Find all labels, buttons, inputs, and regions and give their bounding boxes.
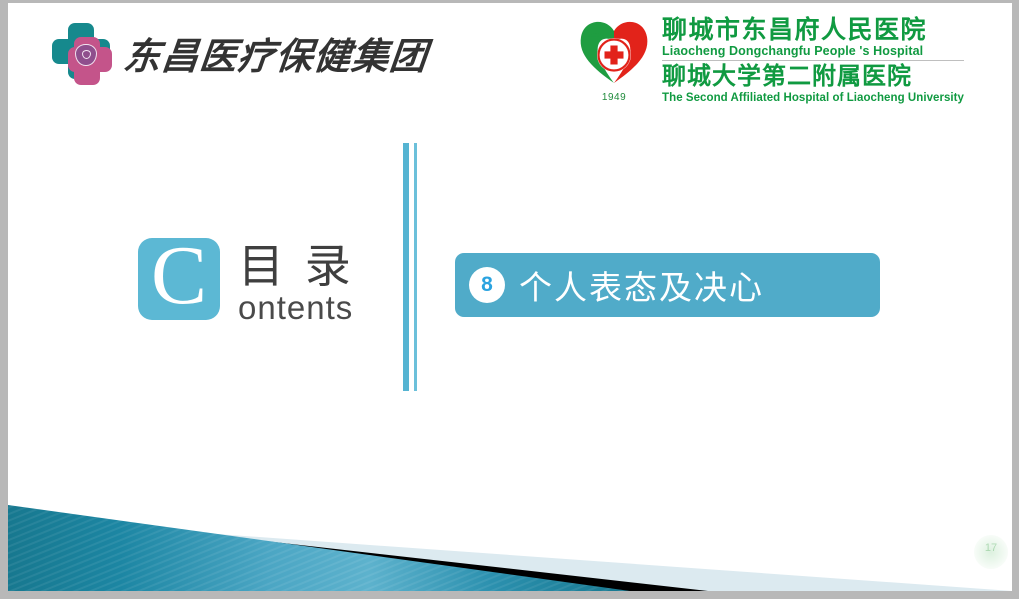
contents-title-cn: 目 录 bbox=[238, 243, 355, 289]
slide-content-area: 东昌医疗保健集团 1949 聊城市东昌府人民医院 Liaocheng Dongc… bbox=[8, 3, 1012, 591]
double-cross-heart-logo-icon bbox=[48, 17, 116, 89]
contents-item-bar[interactable]: 8 个人表态及决心 bbox=[455, 253, 880, 317]
contents-words: 目 录 ontents bbox=[238, 243, 355, 324]
brand-right-group: 1949 聊城市东昌府人民医院 Liaocheng Dongchangfu Pe… bbox=[574, 15, 964, 104]
contents-title-en: ontents bbox=[238, 291, 355, 324]
hospital-name-cn-secondary: 聊城大学第二附属医院 bbox=[662, 64, 964, 90]
hospital-emblem-icon: 1949 bbox=[574, 15, 654, 103]
contents-heading: C 目 录 ontents bbox=[138, 238, 355, 320]
hospital-name-block: 聊城市东昌府人民医院 Liaocheng Dongchangfu People … bbox=[662, 15, 964, 104]
divider-rule-thick bbox=[403, 143, 409, 391]
brand-left-name: 东昌医疗保健集团 bbox=[121, 26, 431, 80]
hospital-name-en-primary: Liaocheng Dongchangfu People 's Hospital bbox=[662, 44, 964, 61]
contents-item-number-badge: 8 bbox=[469, 267, 505, 303]
contents-item-label: 个人表态及决心 bbox=[519, 261, 764, 309]
contents-letter: C bbox=[151, 242, 207, 311]
slide-canvas: 东昌医疗保健集团 1949 聊城市东昌府人民医院 Liaocheng Dongc… bbox=[0, 0, 1019, 599]
bottom-decoration bbox=[8, 481, 1012, 591]
brand-left-group: 东昌医疗保健集团 bbox=[48, 17, 428, 89]
contents-letter-tile: C bbox=[138, 238, 220, 320]
hospital-name-en-secondary: The Second Affiliated Hospital of Liaoch… bbox=[662, 92, 964, 104]
frame-bottom-strip bbox=[0, 591, 1019, 599]
divider-rule-thin bbox=[414, 143, 417, 391]
emblem-year-label: 1949 bbox=[574, 92, 654, 103]
hospital-name-cn-primary: 聊城市东昌府人民医院 bbox=[662, 17, 964, 43]
